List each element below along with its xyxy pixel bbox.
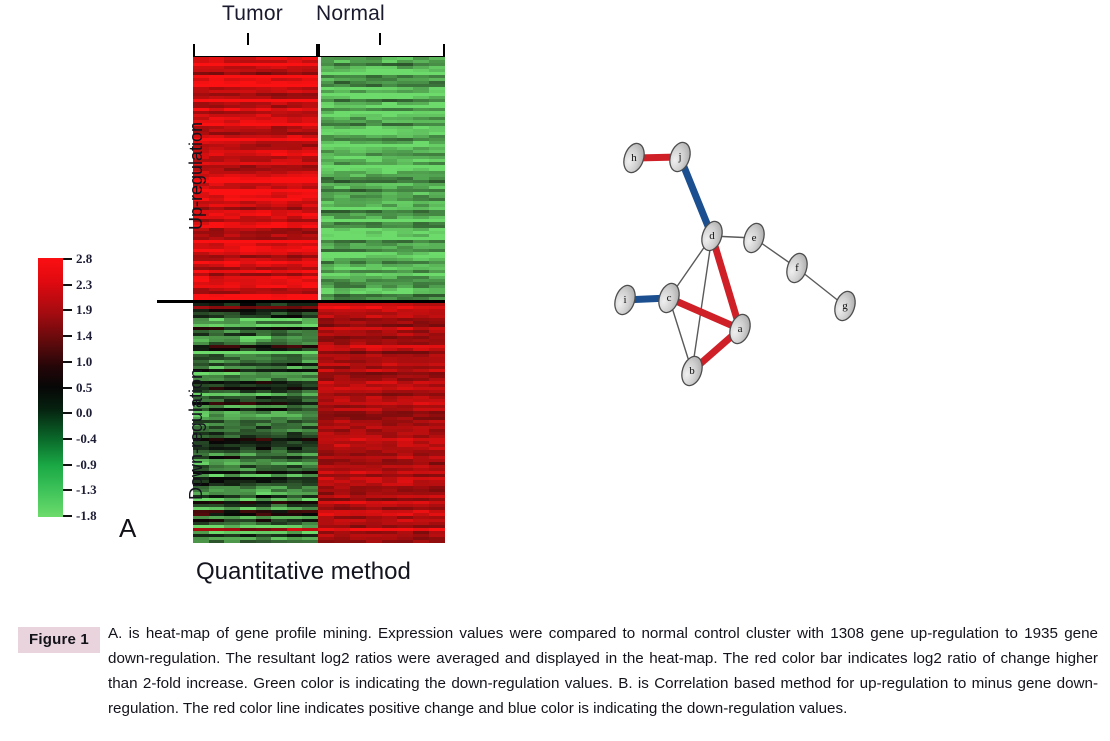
heatmap-cell bbox=[287, 540, 303, 543]
heatmap-cell bbox=[256, 540, 272, 543]
colorbar-tick-label: 2.3 bbox=[76, 277, 92, 293]
regulation-divider-line bbox=[157, 300, 445, 303]
network-node-f[interactable]: f bbox=[783, 251, 810, 285]
group-bracket-tumor bbox=[193, 44, 318, 58]
colorbar-tick bbox=[63, 438, 72, 440]
colorbar-tick bbox=[63, 412, 72, 414]
network-node-d[interactable]: d bbox=[698, 219, 725, 253]
panel-a-method-caption: Quantitative method bbox=[196, 558, 411, 586]
colorbar-tick bbox=[63, 464, 72, 466]
network-node-label: i bbox=[623, 294, 626, 306]
network-node-label: e bbox=[752, 232, 757, 244]
colorbar-tick bbox=[63, 489, 72, 491]
network-node-label: a bbox=[738, 323, 743, 335]
network-node-g[interactable]: g bbox=[831, 289, 858, 323]
colorbar-tick-label: 0.5 bbox=[76, 380, 92, 396]
colorbar-tick bbox=[63, 515, 72, 517]
network-node-c[interactable]: c bbox=[655, 281, 682, 315]
colorbar-tick bbox=[63, 387, 72, 389]
colorbar-tick-label: -0.9 bbox=[76, 457, 97, 473]
heatmap-cell bbox=[193, 540, 209, 543]
colorbar-tick-label: 2.8 bbox=[76, 251, 92, 267]
column-group-label-normal: Normal bbox=[316, 2, 385, 26]
network-node-label: b bbox=[689, 365, 695, 377]
colorbar-tick bbox=[63, 258, 72, 260]
heatmap-cell bbox=[350, 540, 366, 543]
group-bracket-normal bbox=[318, 44, 445, 58]
colorbar-tick bbox=[63, 309, 72, 311]
network-node-label: c bbox=[667, 292, 672, 304]
figure-number-badge: Figure 1 bbox=[18, 627, 100, 653]
figure-caption-block: Figure 1 A. is heat-map of gene profile … bbox=[0, 604, 1110, 741]
colorbar-tick-label: 1.0 bbox=[76, 354, 92, 370]
heatmap-cell bbox=[271, 540, 287, 543]
colorbar-tick-label: -1.8 bbox=[76, 508, 97, 524]
row-region-label-down-regulation: Down-regulation bbox=[186, 369, 207, 500]
network-node-label: d bbox=[709, 230, 715, 242]
figure-caption-text: A. is heat-map of gene profile mining. E… bbox=[108, 621, 1098, 721]
network-node-h[interactable]: h bbox=[620, 141, 647, 175]
colorbar-tick-label: 1.9 bbox=[76, 302, 92, 318]
row-region-label-up-regulation: Up-regulation bbox=[186, 122, 207, 230]
heatmap-cell bbox=[209, 540, 225, 543]
network-nodes: abcdefghij bbox=[611, 140, 858, 388]
colorbar-tick bbox=[63, 361, 72, 363]
colorbar-tick-label: 1.4 bbox=[76, 328, 92, 344]
heatmap-block-down-regulation bbox=[193, 303, 445, 543]
colorbar-tick bbox=[63, 284, 72, 286]
network-edge-j-d[interactable] bbox=[680, 157, 712, 236]
heatmap-cell bbox=[382, 540, 398, 543]
colorbar-tick-label: 0.0 bbox=[76, 405, 92, 421]
heatmap-row bbox=[193, 540, 445, 543]
heatmap-cell bbox=[302, 540, 318, 543]
heatmap-cell bbox=[397, 540, 413, 543]
panel-letter-a: A bbox=[119, 513, 136, 544]
column-separator bbox=[318, 57, 321, 300]
network-node-label: j bbox=[677, 151, 681, 163]
heatmap-cell bbox=[413, 540, 429, 543]
panel-b-network: abcdefghij B Correlation-based-method bbox=[560, 0, 1110, 600]
panel-a-heatmap: Tumor Normal Up-regulation Down-regulati… bbox=[0, 0, 560, 600]
heatmap-cell bbox=[240, 540, 256, 543]
colorbar-tick-label: -0.4 bbox=[76, 431, 97, 447]
heatmap-cell bbox=[429, 540, 445, 543]
heatmap-cell bbox=[334, 540, 350, 543]
network-node-label: g bbox=[842, 300, 848, 312]
network-node-i[interactable]: i bbox=[611, 283, 638, 317]
heatmap-cell bbox=[318, 540, 334, 543]
network-graph: abcdefghij bbox=[560, 0, 1110, 600]
colorbar-gradient bbox=[38, 258, 63, 517]
network-edge-d-b[interactable] bbox=[692, 236, 712, 371]
column-group-label-tumor: Tumor bbox=[222, 2, 283, 26]
colorbar-tick bbox=[63, 335, 72, 337]
network-node-label: f bbox=[795, 262, 799, 274]
network-node-e[interactable]: e bbox=[740, 221, 767, 255]
network-node-j[interactable]: j bbox=[666, 140, 693, 174]
heatmap-cell bbox=[224, 540, 240, 543]
network-node-label: h bbox=[631, 152, 637, 164]
colorbar-tick-label: -1.3 bbox=[76, 482, 97, 498]
heatmap-cell bbox=[366, 540, 382, 543]
